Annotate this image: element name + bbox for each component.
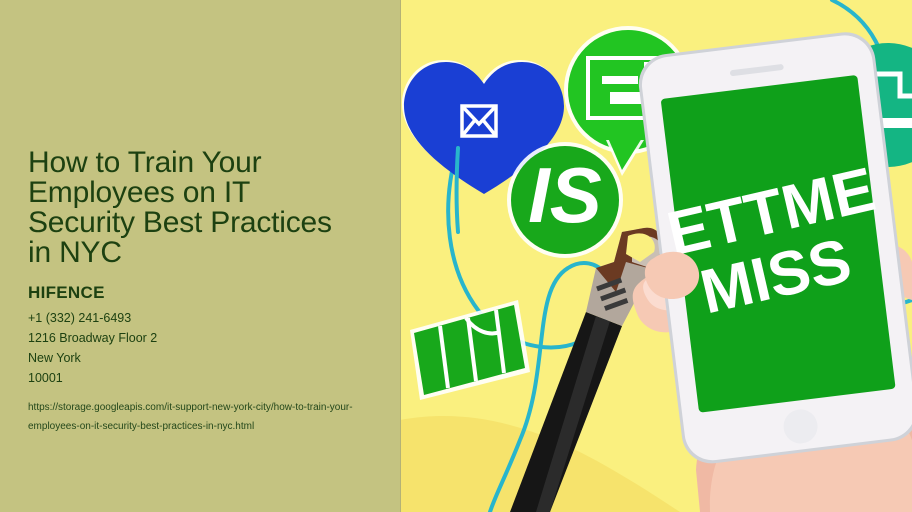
is-badge-label: IS bbox=[528, 151, 602, 239]
article-promo-card: How to Train Your Employees on IT Securi… bbox=[0, 0, 912, 512]
text-block: How to Train Your Employees on IT Securi… bbox=[28, 148, 378, 436]
brand-name: HIFENCE bbox=[28, 282, 378, 304]
text-panel: How to Train Your Employees on IT Securi… bbox=[0, 0, 400, 512]
company-phone: +1 (332) 241-6493 bbox=[28, 308, 378, 328]
page-title: How to Train Your Employees on IT Securi… bbox=[28, 148, 378, 268]
source-url[interactable]: https://storage.googleapis.com/it-suppor… bbox=[28, 398, 358, 436]
illustration-panel: IS bbox=[400, 0, 912, 512]
panel-divider bbox=[400, 0, 401, 512]
company-zip: 10001 bbox=[28, 368, 378, 388]
company-street: 1216 Broadway Floor 2 bbox=[28, 328, 378, 348]
company-city: New York bbox=[28, 348, 378, 368]
is-badge: IS bbox=[507, 142, 623, 258]
illustration-graphic: IS bbox=[400, 0, 912, 512]
